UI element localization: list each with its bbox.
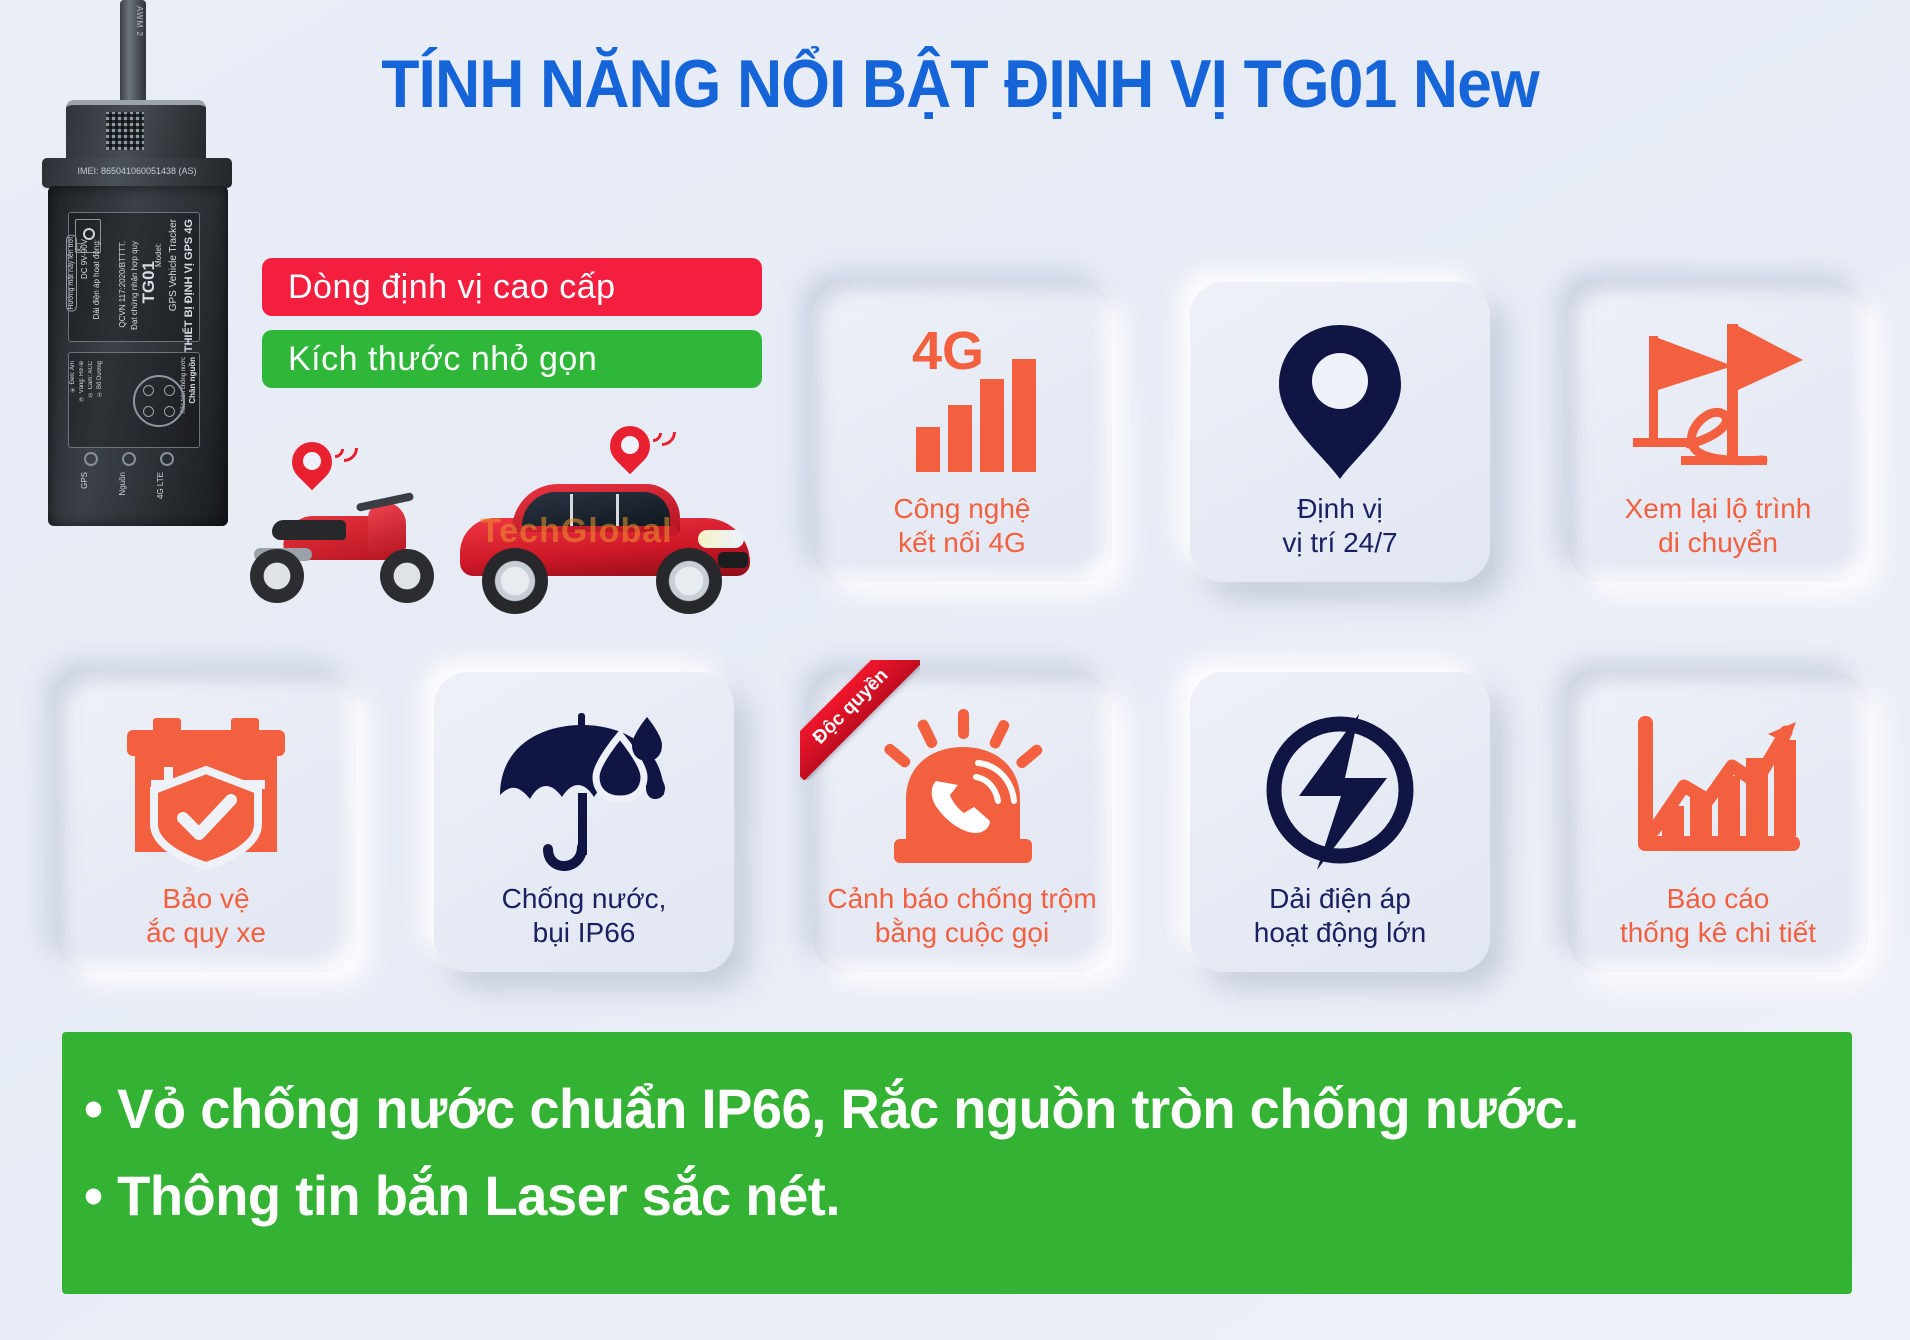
siren-phone-icon bbox=[870, 702, 1055, 882]
feature-card-voltage-label: Dải điện áp hoạt động lớn bbox=[1254, 882, 1427, 950]
badge-premium: Dòng định vị cao cấp bbox=[262, 258, 762, 316]
feature-card-location[interactable]: Định vị vị trí 24/7 bbox=[1190, 282, 1490, 582]
feature-card-route-label: Xem lại lộ trình di chuyển bbox=[1625, 492, 1812, 560]
device-cert-line1: Đạt chứng nhận hợp quy bbox=[130, 241, 139, 330]
feature-card-alarm-call[interactable]: Độc quyền Cảnh báo chốn bbox=[812, 672, 1112, 972]
svg-text:4G: 4G bbox=[912, 321, 984, 381]
banner-line-1: • Vỏ chống nước chuẩn IP66, Rắc nguồn tr… bbox=[84, 1066, 1799, 1153]
device-label-panel: THIẾT BỊ ĐỊNH VỊ GPS 4G GPS Vehicle Trac… bbox=[68, 212, 200, 342]
page-title: TÍNH NĂNG NỔI BẬT ĐỊNH VỊ TG01 New bbox=[307, 50, 1613, 118]
infographic-root: TÍNH NĂNG NỔI BẬT ĐỊNH VỊ TG01 New AWM 2… bbox=[0, 0, 1910, 1340]
device-cert-line2: QCVN 117:2020/BTTTT. bbox=[118, 241, 127, 328]
device-panel-title1: THIẾT BỊ ĐỊNH VỊ GPS 4G bbox=[183, 219, 195, 352]
device-orientation-note: Hướng mặt này lên trời bbox=[66, 235, 77, 312]
feature-card-4g[interactable]: 4G Công nghệ kết nối 4G bbox=[812, 282, 1112, 582]
led-gps-icon bbox=[84, 452, 98, 466]
badge-compact-label: Kích thước nhỏ gọn bbox=[288, 340, 597, 379]
feature-card-waterproof-label: Chống nước, bụi IP66 bbox=[502, 882, 667, 950]
device-model-value: TG01 bbox=[139, 261, 159, 304]
bottom-banner: • Vỏ chống nước chuẩn IP66, Rắc nguồn tr… bbox=[62, 1032, 1852, 1294]
feature-card-battery[interactable]: Bảo vệ ắc quy xe bbox=[56, 672, 356, 972]
route-flags-icon bbox=[1623, 312, 1813, 492]
led-power-label: Nguồn bbox=[118, 472, 127, 496]
led-gps-label: GPS bbox=[80, 472, 89, 489]
connector-pin-3: ③ Vàng: Rơ-le bbox=[78, 361, 85, 402]
signal-bars-4g-icon: 4G bbox=[872, 312, 1052, 492]
connector-socket-icon bbox=[133, 375, 185, 427]
scooter-image bbox=[248, 498, 438, 603]
umbrella-droplets-icon bbox=[492, 702, 677, 882]
feature-card-alarm-call-label: Cảnh báo chống trộm bằng cuộc gọi bbox=[827, 882, 1096, 950]
feature-card-4g-label: Công nghệ kết nối 4G bbox=[893, 492, 1030, 560]
feature-card-battery-label: Bảo vệ ắc quy xe bbox=[146, 882, 266, 950]
device-voltage-line2: DC 9V-90V bbox=[80, 239, 89, 279]
device-panel-title2: GPS Vehicle Tracker bbox=[168, 219, 179, 311]
connector-pin-4: ④ Đen: Âm bbox=[69, 361, 76, 393]
device-cable-text: AWM 2 bbox=[122, 6, 144, 37]
feature-card-report-label: Báo cáo thống kê chi tiết bbox=[1620, 882, 1816, 950]
led-4glte-icon bbox=[160, 452, 174, 466]
feature-card-waterproof[interactable]: Chống nước, bụi IP66 bbox=[434, 672, 734, 972]
connector-pin-1: ① Bổ Dương bbox=[96, 361, 103, 398]
qr-code-icon bbox=[106, 112, 144, 150]
car-image bbox=[460, 478, 750, 610]
feature-card-report[interactable]: Báo cáo thống kê chi tiết bbox=[1568, 672, 1868, 972]
lightning-circle-icon bbox=[1255, 702, 1425, 882]
feature-card-route[interactable]: Xem lại lộ trình di chuyển bbox=[1568, 282, 1868, 582]
banner-line-2: • Thông tin bắn Laser sắc nét. bbox=[84, 1153, 1799, 1240]
feature-card-voltage[interactable]: Dải điện áp hoạt động lớn bbox=[1190, 672, 1490, 972]
vehicle-illustration bbox=[230, 420, 750, 620]
led-power-icon bbox=[122, 452, 136, 466]
led-4glte-label: 4G LTE bbox=[156, 472, 165, 499]
battery-shield-icon bbox=[119, 702, 294, 882]
badge-premium-label: Dòng định vị cao cấp bbox=[288, 268, 616, 307]
connector-header: Chân nguồn bbox=[188, 357, 197, 404]
bar-chart-growth-icon bbox=[1628, 702, 1808, 882]
badge-compact: Kích thước nhỏ gọn bbox=[262, 330, 762, 388]
feature-card-location-label: Định vị vị trí 24/7 bbox=[1282, 492, 1397, 560]
map-pin-icon bbox=[1265, 312, 1415, 492]
device-imei-text: IMEI: 865041060051438 (AS) bbox=[48, 166, 226, 176]
device-voltage-line1: Dải điện áp hoạt động: bbox=[92, 239, 101, 320]
connector-pin-2: ② Cam: ACC bbox=[87, 361, 94, 398]
